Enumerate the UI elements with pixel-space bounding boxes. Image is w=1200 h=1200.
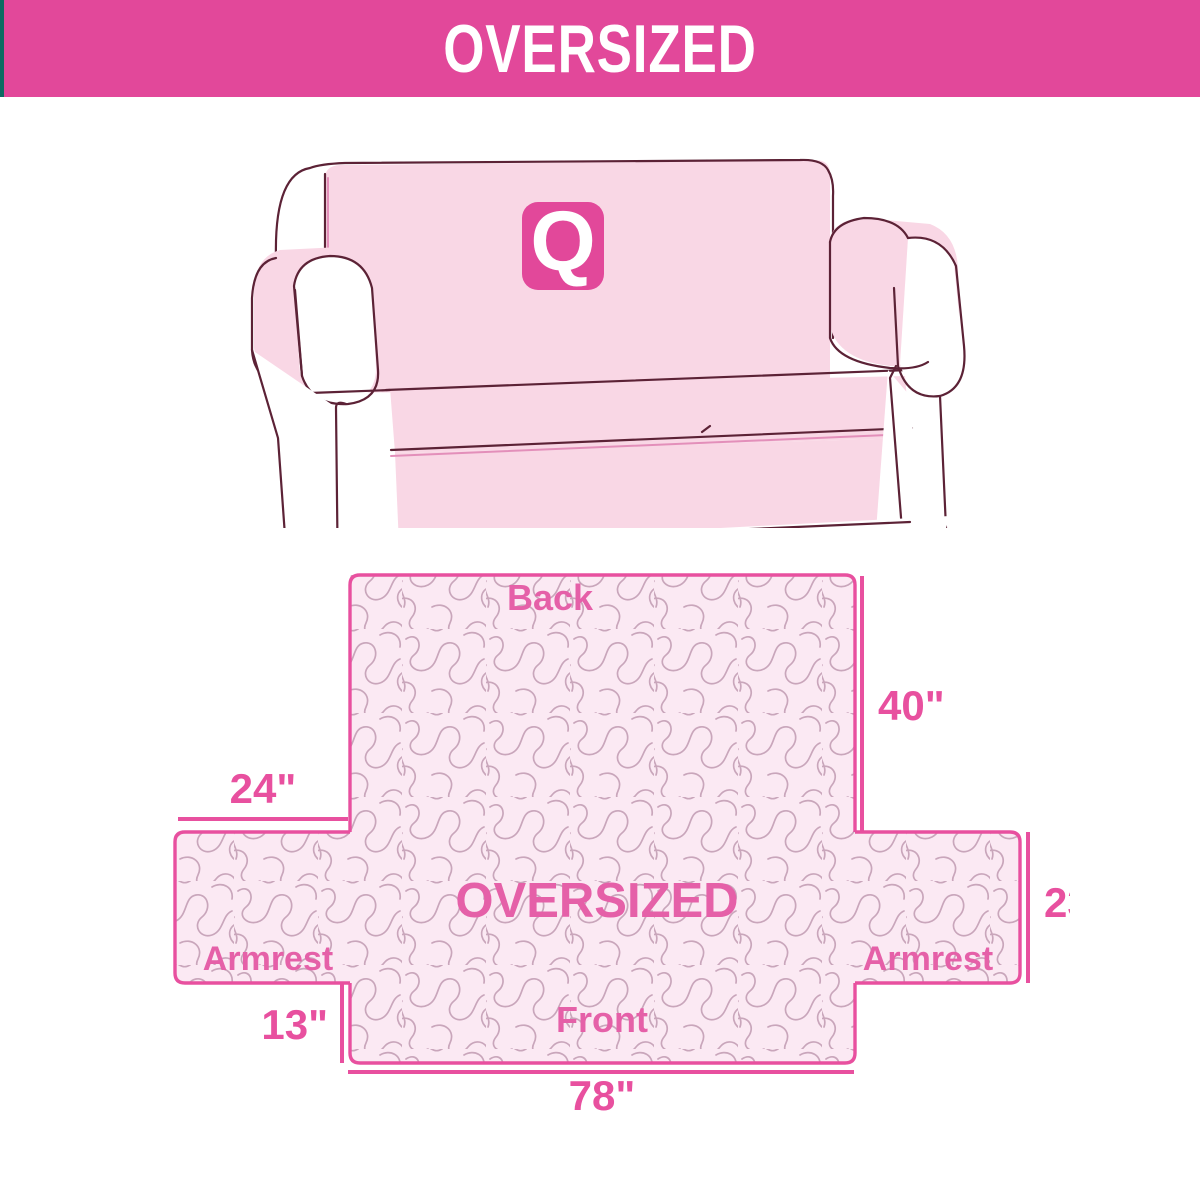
dimension-value-24: 24" [230, 765, 297, 812]
back-panel-label: Back [507, 577, 594, 618]
flat-layout-diagram: .panel-outline { fill: none; stroke: #e8… [150, 545, 1070, 1115]
dimension-value-13: 13" [261, 1001, 328, 1048]
dimension-armrest-height: 23" [1028, 834, 1070, 981]
dimension-front-height: 13" [261, 986, 342, 1061]
banner-left-edge-stripe [0, 0, 4, 97]
dimension-back-height: 40" [862, 578, 945, 830]
center-size-label: OVERSIZED [455, 874, 738, 928]
sofa-seat [386, 370, 915, 528]
dimension-value-78: 78" [569, 1072, 636, 1115]
left-armrest-label: Armrest [203, 940, 333, 978]
front-panel-label: Front [556, 999, 648, 1040]
logo-letter-q: Q [530, 194, 595, 288]
brand-logo-q: Q [522, 194, 604, 290]
dimension-value-23: 23" [1044, 879, 1070, 926]
sofa-illustration: .sofa-fill { fill: #f9d7e5; } .sofa-whit… [250, 138, 970, 528]
page-title: OVERSIZED [443, 15, 757, 83]
header-banner: OVERSIZED [0, 0, 1200, 97]
dimension-armrest-width: 24" [180, 765, 346, 819]
dimension-total-width: 78" [350, 1072, 852, 1115]
dimension-value-40: 40" [878, 682, 945, 729]
right-armrest-label: Armrest [863, 940, 993, 978]
